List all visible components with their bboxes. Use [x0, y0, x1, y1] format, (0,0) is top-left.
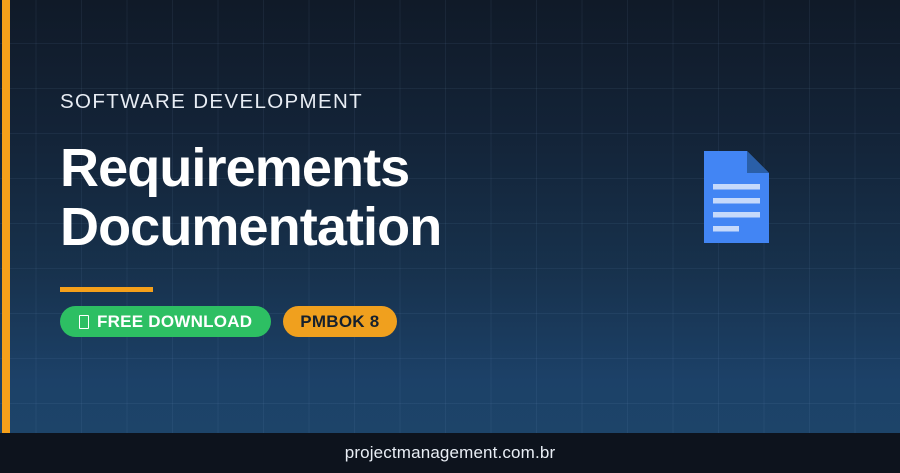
download-icon [79, 315, 89, 329]
free-download-badge[interactable]: FREE DOWNLOAD [60, 306, 271, 337]
pmbok-badge-label: PMBOK 8 [300, 312, 379, 332]
category-eyebrow: SOFTWARE DEVELOPMENT [60, 90, 363, 114]
banner-content: SOFTWARE DEVELOPMENT Requirements Docume… [60, 0, 680, 433]
title-divider [60, 287, 153, 292]
footer-website-url: projectmanagement.com.br [345, 443, 556, 463]
document-icon [704, 151, 769, 243]
page-title: Requirements Documentation [60, 139, 441, 257]
footer-bar: projectmanagement.com.br [0, 433, 900, 473]
left-accent-bar [2, 0, 10, 433]
pmbok-badge[interactable]: PMBOK 8 [283, 306, 396, 337]
free-download-badge-label: FREE DOWNLOAD [97, 312, 252, 332]
promo-banner: SOFTWARE DEVELOPMENT Requirements Docume… [0, 0, 900, 473]
badge-group: FREE DOWNLOAD PMBOK 8 [60, 306, 397, 337]
